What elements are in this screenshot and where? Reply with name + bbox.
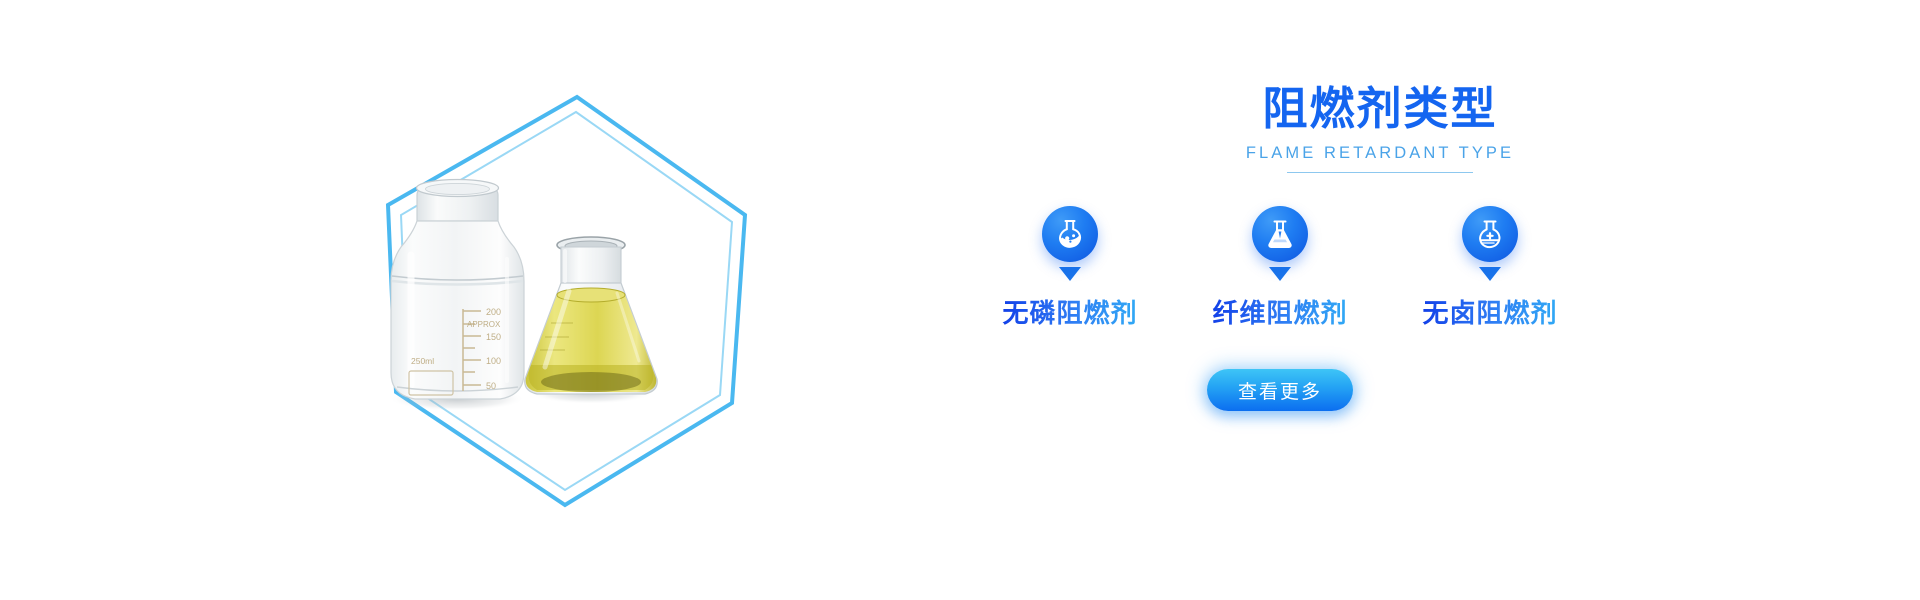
svg-text:250ml: 250ml [411, 356, 434, 366]
glassware-photo: 200 APPROX 150 100 50 250ml [355, 135, 695, 435]
round-flask-bubbles-icon[interactable] [1042, 206, 1098, 262]
category-item-wulu[interactable]: 无卤阻燃剂 [1395, 206, 1585, 330]
conical-flask-icon[interactable] [1252, 206, 1308, 262]
category-item-wulin[interactable]: 无磷阻燃剂 [975, 206, 1165, 330]
category-item-xianwei[interactable]: 纤维阻燃剂 [1185, 206, 1375, 330]
flask-plus-icon[interactable] [1462, 206, 1518, 262]
svg-text:50: 50 [486, 381, 496, 391]
category-pointer [1059, 267, 1081, 281]
category-label: 无卤阻燃剂 [1422, 293, 1557, 330]
svg-text:200: 200 [486, 307, 501, 317]
category-label: 无磷阻燃剂 [1002, 293, 1137, 330]
title-block: 阻燃剂类型 FLAME RETARDANT TYPE [1190, 82, 1570, 173]
view-more-button[interactable]: 查看更多 [1207, 369, 1353, 411]
product-image-panel: 200 APPROX 150 100 50 250ml [300, 40, 820, 560]
glassware-illustration: 200 APPROX 150 100 50 250ml [355, 135, 695, 435]
page-title: 阻燃剂类型 [1190, 82, 1570, 135]
svg-text:150: 150 [486, 332, 501, 342]
cta-container: 查看更多 [975, 369, 1585, 411]
svg-text:APPROX: APPROX [467, 320, 501, 329]
svg-text:100: 100 [486, 356, 501, 366]
category-pointer [1479, 267, 1501, 281]
flame-retardant-banner: 200 APPROX 150 100 50 250ml [0, 0, 1920, 600]
page-subtitle: FLAME RETARDANT TYPE [1190, 144, 1570, 172]
title-divider [1287, 172, 1473, 173]
erlenmeyer-flask [525, 237, 658, 394]
category-list: 无磷阻燃剂 纤维阻燃剂 [975, 206, 1585, 330]
banner-content: 阻燃剂类型 FLAME RETARDANT TYPE [1080, 82, 1680, 532]
category-pointer [1269, 267, 1291, 281]
reagent-bottle: 200 APPROX 150 100 50 250ml [391, 180, 524, 400]
category-label: 纤维阻燃剂 [1212, 293, 1347, 330]
